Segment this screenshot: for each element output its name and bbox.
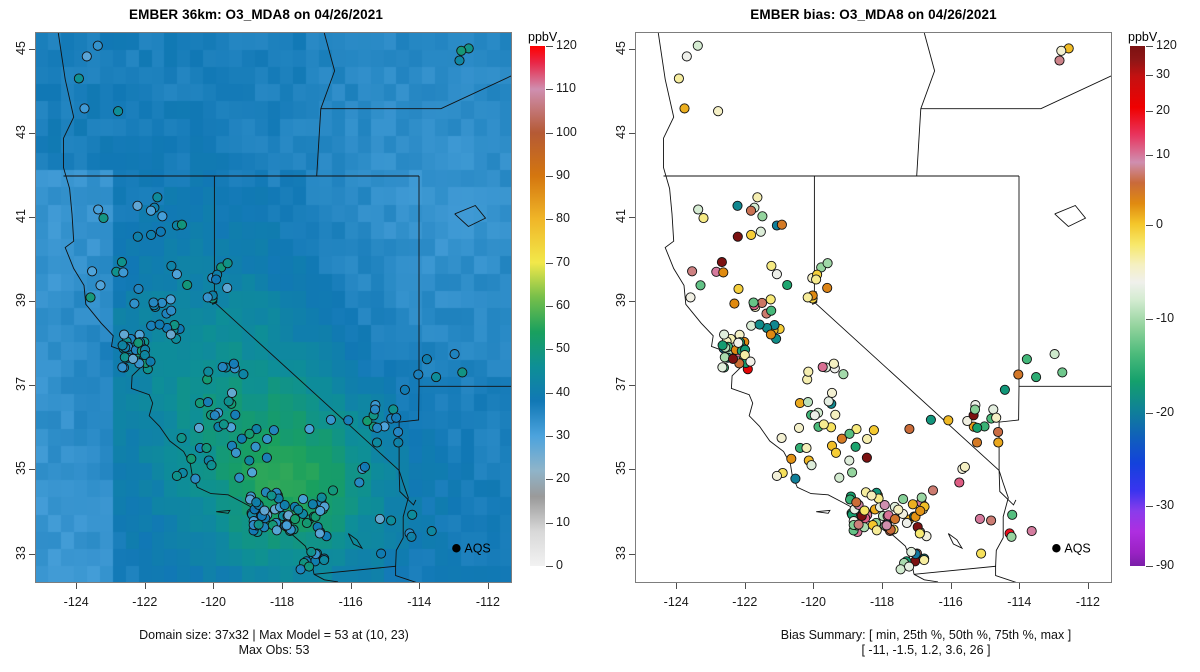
aqs-bias-marker[interactable] [907, 547, 916, 556]
aqs-station-marker[interactable] [328, 486, 337, 495]
aqs-bias-marker[interactable] [791, 474, 800, 483]
y-axis-tick [29, 49, 35, 50]
aqs-bias-marker[interactable] [747, 230, 756, 239]
y-axis-label: 33 [614, 533, 628, 573]
aqs-bias-marker[interactable] [1007, 532, 1016, 541]
left-colorbar-title: ppbV [528, 30, 557, 44]
x-axis-tick [76, 583, 77, 589]
aqs-bias-marker[interactable] [916, 506, 925, 515]
aqs-bias-marker[interactable] [717, 258, 726, 267]
aqs-bias-marker[interactable] [749, 298, 758, 307]
aqs-station-marker[interactable] [147, 230, 156, 239]
aqs-station-marker[interactable] [120, 330, 129, 339]
x-axis-label: -122 [722, 595, 768, 609]
left-caption-line-2: Max Obs: 53 [0, 643, 548, 658]
aqs-bias-marker[interactable] [818, 362, 827, 371]
aqs-station-marker[interactable] [223, 259, 232, 268]
aqs-station-marker[interactable] [218, 362, 227, 371]
colorbar-label: 20 [1156, 103, 1170, 117]
aqs-bias-marker[interactable] [848, 468, 857, 477]
colorbar-label: 40 [556, 385, 570, 399]
colorbar-label: 70 [556, 255, 570, 269]
colorbar-label: 0 [556, 558, 563, 572]
aqs-station-marker[interactable] [239, 370, 248, 379]
aqs-bias-marker[interactable] [894, 505, 903, 514]
aqs-bias-marker[interactable] [987, 516, 996, 525]
aqs-bias-marker[interactable] [755, 320, 764, 329]
aqs-bias-marker[interactable] [714, 107, 723, 116]
aqs-bias-marker[interactable] [994, 427, 1003, 436]
aqs-bias-marker[interactable] [720, 330, 729, 339]
aqs-station-marker[interactable] [231, 410, 240, 419]
aqs-bias-marker[interactable] [734, 284, 743, 293]
colorbar-tick [1146, 413, 1153, 414]
aqs-legend-label: AQS [464, 542, 490, 556]
aqs-station-marker[interactable] [167, 261, 176, 270]
aqs-station-marker[interactable] [224, 397, 233, 406]
aqs-bias-marker[interactable] [688, 267, 697, 276]
aqs-station-marker[interactable] [172, 270, 181, 279]
aqs-bias-marker[interactable] [767, 261, 776, 270]
aqs-bias-marker[interactable] [766, 330, 775, 339]
aqs-bias-marker[interactable] [926, 415, 935, 424]
map-boundary-line [317, 33, 335, 176]
aqs-bias-marker[interactable] [807, 461, 816, 470]
aqs-station-marker[interactable] [282, 521, 291, 530]
aqs-station-marker[interactable] [82, 52, 91, 61]
aqs-station-marker[interactable] [191, 474, 200, 483]
x-axis-tick [419, 583, 420, 589]
aqs-bias-marker[interactable] [882, 521, 891, 530]
colorbar-tick [546, 306, 553, 307]
map-boundary-line [216, 510, 230, 513]
aqs-station-marker[interactable] [166, 295, 175, 304]
aqs-station-marker[interactable] [177, 220, 186, 229]
aqs-bias-marker[interactable] [804, 367, 813, 376]
aqs-station-marker[interactable] [88, 267, 97, 276]
aqs-station-marker[interactable] [117, 258, 126, 267]
y-axis-tick [629, 301, 635, 302]
aqs-bias-marker[interactable] [920, 556, 929, 565]
aqs-bias-marker[interactable] [1055, 56, 1064, 65]
aqs-station-marker[interactable] [149, 298, 158, 307]
x-axis-tick [282, 583, 283, 589]
colorbar-tick [546, 89, 553, 90]
aqs-station-marker[interactable] [296, 565, 305, 574]
aqs-station-marker[interactable] [231, 448, 240, 457]
aqs-station-marker[interactable] [158, 212, 167, 221]
x-axis-tick [213, 583, 214, 589]
aqs-bias-marker[interactable] [973, 423, 982, 432]
aqs-bias-marker[interactable] [902, 518, 911, 527]
aqs-station-marker[interactable] [219, 420, 228, 429]
aqs-bias-marker[interactable] [803, 293, 812, 302]
left-map-area: AQS [36, 33, 511, 582]
aqs-station-marker[interactable] [267, 491, 276, 500]
aqs-station-marker[interactable] [114, 107, 123, 116]
aqs-station-marker[interactable] [146, 357, 155, 366]
aqs-station-marker[interactable] [427, 527, 436, 536]
aqs-bias-marker[interactable] [851, 442, 860, 451]
aqs-station-marker[interactable] [134, 338, 143, 347]
aqs-bias-marker[interactable] [802, 443, 811, 452]
aqs-station-marker[interactable] [394, 438, 403, 447]
aqs-bias-marker[interactable] [890, 515, 899, 524]
aqs-station-marker[interactable] [167, 306, 176, 315]
aqs-bias-marker[interactable] [758, 212, 767, 221]
aqs-bias-marker[interactable] [970, 405, 979, 414]
aqs-bias-marker[interactable] [899, 495, 908, 504]
aqs-station-marker[interactable] [212, 275, 221, 284]
aqs-station-marker[interactable] [316, 506, 325, 515]
x-axis-label: -114 [396, 595, 442, 609]
x-axis-label: -114 [996, 595, 1042, 609]
aqs-bias-marker[interactable] [845, 456, 854, 465]
map-boundary-line [314, 574, 338, 582]
aqs-bias-marker[interactable] [831, 410, 840, 419]
right-map-area: AQS [636, 33, 1111, 582]
y-axis-label: 43 [14, 112, 28, 152]
aqs-station-marker[interactable] [235, 473, 244, 482]
map-boundary-line [1055, 206, 1086, 227]
right-map-overlay: AQS [636, 33, 1111, 582]
aqs-station-marker[interactable] [177, 433, 186, 442]
y-axis-label: 41 [14, 196, 28, 236]
colorbar-tick [1146, 506, 1153, 507]
aqs-bias-marker[interactable] [746, 357, 755, 366]
x-axis-label: -118 [859, 595, 905, 609]
aqs-bias-marker[interactable] [823, 283, 832, 292]
aqs-station-marker[interactable] [94, 205, 103, 214]
aqs-station-marker[interactable] [99, 214, 108, 223]
aqs-station-marker[interactable] [245, 456, 254, 465]
aqs-station-marker[interactable] [223, 283, 232, 292]
aqs-bias-marker[interactable] [718, 363, 727, 372]
aqs-bias-marker[interactable] [803, 398, 812, 407]
aqs-station-marker[interactable] [118, 341, 127, 350]
aqs-station-marker[interactable] [210, 411, 219, 420]
x-axis-tick [882, 583, 883, 589]
y-axis-tick [629, 49, 635, 50]
aqs-station-marker[interactable] [262, 453, 271, 462]
aqs-bias-marker[interactable] [812, 275, 821, 284]
aqs-bias-marker[interactable] [823, 259, 832, 268]
aqs-station-marker[interactable] [254, 520, 263, 529]
aqs-station-marker[interactable] [146, 206, 155, 215]
aqs-station-marker[interactable] [245, 429, 254, 438]
y-axis-label: 43 [614, 112, 628, 152]
aqs-bias-marker[interactable] [1027, 527, 1036, 536]
aqs-bias-marker[interactable] [756, 227, 765, 236]
aqs-bias-marker[interactable] [777, 220, 786, 229]
aqs-bias-marker[interactable] [766, 295, 775, 304]
aqs-station-marker[interactable] [302, 518, 311, 527]
aqs-station-marker[interactable] [450, 350, 459, 359]
aqs-station-marker[interactable] [118, 363, 127, 372]
aqs-station-marker[interactable] [299, 495, 308, 504]
aqs-station-marker[interactable] [187, 454, 196, 463]
aqs-bias-marker[interactable] [955, 478, 964, 487]
x-axis-tick [745, 583, 746, 589]
aqs-station-marker[interactable] [251, 442, 260, 451]
aqs-bias-marker[interactable] [746, 206, 755, 215]
aqs-bias-marker[interactable] [720, 353, 729, 362]
aqs-station-marker[interactable] [320, 556, 329, 565]
aqs-bias-marker[interactable] [827, 388, 836, 397]
aqs-station-marker[interactable] [93, 41, 102, 50]
right-colorbar-title: ppbV [1128, 30, 1157, 44]
aqs-station-marker[interactable] [422, 355, 431, 364]
aqs-bias-marker[interactable] [928, 486, 937, 495]
colorbar-label: 30 [1156, 67, 1170, 81]
aqs-bias-marker[interactable] [730, 299, 739, 308]
aqs-station-marker[interactable] [373, 423, 382, 432]
colorbar-tick [1146, 46, 1153, 47]
aqs-station-marker[interactable] [315, 529, 324, 538]
aqs-station-marker[interactable] [290, 515, 299, 524]
aqs-bias-marker[interactable] [734, 338, 743, 347]
aqs-station-marker[interactable] [377, 549, 386, 558]
aqs-station-marker[interactable] [400, 385, 409, 394]
x-axis-label: -118 [259, 595, 305, 609]
aqs-station-marker[interactable] [305, 424, 314, 433]
colorbar-label: 60 [556, 298, 570, 312]
aqs-station-marker[interactable] [408, 510, 417, 519]
map-boundary-line [999, 176, 1019, 470]
aqs-station-marker[interactable] [269, 426, 278, 435]
colorbar-label: 10 [1156, 147, 1170, 161]
aqs-bias-marker[interactable] [860, 506, 869, 515]
aqs-station-marker[interactable] [119, 268, 128, 277]
aqs-station-marker[interactable] [183, 280, 192, 289]
aqs-bias-marker[interactable] [977, 549, 986, 558]
aqs-station-marker[interactable] [305, 562, 314, 571]
aqs-bias-marker[interactable] [1032, 373, 1041, 382]
aqs-bias-marker[interactable] [869, 426, 878, 435]
colorbar-tick [546, 393, 553, 394]
aqs-station-marker[interactable] [263, 434, 272, 443]
aqs-station-marker[interactable] [147, 321, 156, 330]
aqs-station-marker[interactable] [86, 293, 95, 302]
aqs-station-marker[interactable] [156, 227, 165, 236]
aqs-bias-marker[interactable] [777, 433, 786, 442]
aqs-bias-marker[interactable] [733, 232, 742, 241]
aqs-station-marker[interactable] [229, 359, 238, 368]
aqs-bias-marker[interactable] [699, 214, 708, 223]
aqs-station-marker[interactable] [414, 370, 423, 379]
aqs-station-marker[interactable] [432, 373, 441, 382]
y-axis-tick [29, 217, 35, 218]
aqs-station-marker[interactable] [128, 354, 137, 363]
aqs-bias-marker[interactable] [1058, 368, 1067, 377]
y-axis-tick [629, 385, 635, 386]
right-panel: EMBER bias: O3_MDA8 on 04/26/2021 AQS -1… [600, 0, 1200, 672]
aqs-bias-marker[interactable] [845, 429, 854, 438]
aqs-station-marker[interactable] [344, 416, 353, 425]
aqs-bias-marker[interactable] [960, 462, 969, 471]
aqs-station-marker[interactable] [326, 415, 335, 424]
aqs-bias-marker[interactable] [682, 52, 691, 61]
aqs-station-marker[interactable] [317, 493, 326, 502]
x-axis-tick [351, 583, 352, 589]
y-axis-tick [629, 469, 635, 470]
aqs-bias-marker[interactable] [989, 405, 998, 414]
aqs-bias-marker[interactable] [852, 498, 861, 507]
aqs-station-marker[interactable] [202, 443, 211, 452]
aqs-bias-marker[interactable] [862, 453, 871, 462]
colorbar-tick [546, 349, 553, 350]
aqs-bias-marker[interactable] [854, 520, 863, 529]
aqs-station-marker[interactable] [407, 532, 416, 541]
y-axis-label: 37 [14, 364, 28, 404]
aqs-station-marker[interactable] [355, 478, 364, 487]
aqs-bias-marker[interactable] [867, 491, 876, 500]
aqs-station-marker[interactable] [458, 368, 467, 377]
colorbar-label: 30 [556, 428, 570, 442]
aqs-bias-marker[interactable] [767, 306, 776, 315]
colorbar-label: 120 [1156, 38, 1177, 52]
aqs-station-marker[interactable] [308, 500, 317, 509]
aqs-station-marker[interactable] [166, 330, 175, 339]
aqs-bias-marker[interactable] [829, 359, 838, 368]
aqs-bias-marker[interactable] [908, 500, 917, 509]
x-axis-label: -120 [190, 595, 236, 609]
aqs-station-marker[interactable] [252, 498, 261, 507]
aqs-bias-marker[interactable] [718, 341, 727, 350]
aqs-station-marker[interactable] [80, 104, 89, 113]
aqs-bias-marker[interactable] [819, 420, 828, 429]
x-axis-label: -112 [1065, 595, 1111, 609]
aqs-station-marker[interactable] [227, 388, 236, 397]
aqs-bias-marker[interactable] [728, 354, 737, 363]
colorbar-tick [1146, 75, 1153, 76]
colorbar-tick [546, 133, 553, 134]
aqs-station-marker[interactable] [375, 514, 384, 523]
aqs-bias-marker[interactable] [863, 434, 872, 443]
aqs-bias-marker[interactable] [694, 205, 703, 214]
aqs-bias-marker[interactable] [680, 104, 689, 113]
aqs-bias-marker[interactable] [835, 473, 844, 482]
aqs-station-marker[interactable] [248, 468, 257, 477]
aqs-bias-marker[interactable] [772, 471, 781, 480]
aqs-station-marker[interactable] [307, 547, 316, 556]
colorbar-tick [1146, 319, 1153, 320]
aqs-bias-marker[interactable] [905, 562, 914, 571]
aqs-bias-marker[interactable] [787, 454, 796, 463]
aqs-bias-marker[interactable] [747, 321, 756, 330]
x-axis-tick [676, 583, 677, 589]
aqs-bias-marker[interactable] [674, 74, 683, 83]
aqs-station-marker[interactable] [370, 405, 379, 414]
aqs-station-marker[interactable] [272, 526, 281, 535]
colorbar-tick [546, 46, 553, 47]
aqs-station-marker[interactable] [260, 506, 269, 515]
y-axis-label: 41 [614, 196, 628, 236]
aqs-bias-marker[interactable] [1000, 385, 1009, 394]
aqs-bias-marker[interactable] [1050, 350, 1059, 359]
aqs-bias-marker[interactable] [915, 529, 924, 538]
aqs-station-marker[interactable] [194, 423, 203, 432]
aqs-bias-marker[interactable] [917, 493, 926, 502]
aqs-bias-marker[interactable] [944, 416, 953, 425]
aqs-bias-marker[interactable] [994, 438, 1003, 447]
aqs-bias-marker[interactable] [831, 448, 840, 457]
aqs-bias-marker[interactable] [872, 526, 881, 535]
aqs-station-marker[interactable] [172, 471, 181, 480]
y-axis-label: 39 [614, 280, 628, 320]
aqs-station-marker[interactable] [389, 405, 398, 414]
aqs-station-marker[interactable] [96, 281, 105, 290]
colorbar-label: -90 [1156, 558, 1174, 572]
aqs-bias-marker[interactable] [839, 370, 848, 379]
colorbar-label: 50 [556, 341, 570, 355]
aqs-bias-marker[interactable] [772, 270, 781, 279]
aqs-station-marker[interactable] [203, 398, 212, 407]
aqs-bias-marker[interactable] [1008, 510, 1017, 519]
aqs-station-marker[interactable] [120, 353, 129, 362]
aqs-bias-marker[interactable] [972, 438, 981, 447]
aqs-bias-marker[interactable] [794, 423, 803, 432]
y-axis-label: 45 [614, 28, 628, 68]
aqs-bias-marker[interactable] [719, 268, 728, 277]
aqs-bias-marker[interactable] [733, 201, 742, 210]
aqs-bias-marker[interactable] [693, 41, 702, 50]
aqs-station-marker[interactable] [457, 46, 466, 55]
aqs-station-marker[interactable] [133, 232, 142, 241]
aqs-station-marker[interactable] [134, 284, 143, 293]
aqs-station-marker[interactable] [387, 516, 396, 525]
aqs-bias-marker[interactable] [975, 514, 984, 523]
aqs-station-marker[interactable] [204, 367, 213, 376]
aqs-station-marker[interactable] [130, 299, 139, 308]
map-boundary-line [948, 534, 962, 549]
aqs-bias-marker[interactable] [824, 397, 833, 406]
x-axis-tick [1088, 583, 1089, 589]
aqs-bias-marker[interactable] [1014, 370, 1023, 379]
aqs-bias-marker[interactable] [992, 413, 1001, 422]
aqs-bias-marker[interactable] [905, 424, 914, 433]
aqs-bias-marker[interactable] [1022, 355, 1031, 364]
colorbar-tick [546, 436, 553, 437]
aqs-bias-marker[interactable] [696, 281, 705, 290]
aqs-bias-marker[interactable] [896, 565, 905, 574]
aqs-bias-marker[interactable] [810, 411, 819, 420]
colorbar-gradient [1130, 46, 1145, 566]
aqs-station-marker[interactable] [207, 461, 216, 470]
aqs-station-marker[interactable] [203, 293, 212, 302]
map-boundary-line [348, 534, 362, 549]
x-axis-label: -116 [928, 595, 974, 609]
aqs-station-marker[interactable] [155, 320, 164, 329]
aqs-bias-marker[interactable] [686, 293, 695, 302]
x-axis-tick [1019, 583, 1020, 589]
x-axis-label: -122 [122, 595, 168, 609]
aqs-station-marker[interactable] [392, 413, 401, 422]
aqs-station-marker[interactable] [360, 462, 369, 471]
aqs-station-marker[interactable] [455, 56, 464, 65]
aqs-station-marker[interactable] [74, 74, 83, 83]
aqs-bias-marker[interactable] [1057, 46, 1066, 55]
y-axis-tick [629, 217, 635, 218]
aqs-station-marker[interactable] [294, 505, 303, 514]
aqs-bias-marker[interactable] [783, 280, 792, 289]
aqs-station-marker[interactable] [394, 427, 403, 436]
aqs-bias-marker[interactable] [753, 193, 762, 202]
y-axis-tick [29, 385, 35, 386]
aqs-station-marker[interactable] [372, 438, 381, 447]
aqs-station-marker[interactable] [133, 201, 142, 210]
aqs-station-marker[interactable] [153, 193, 162, 202]
